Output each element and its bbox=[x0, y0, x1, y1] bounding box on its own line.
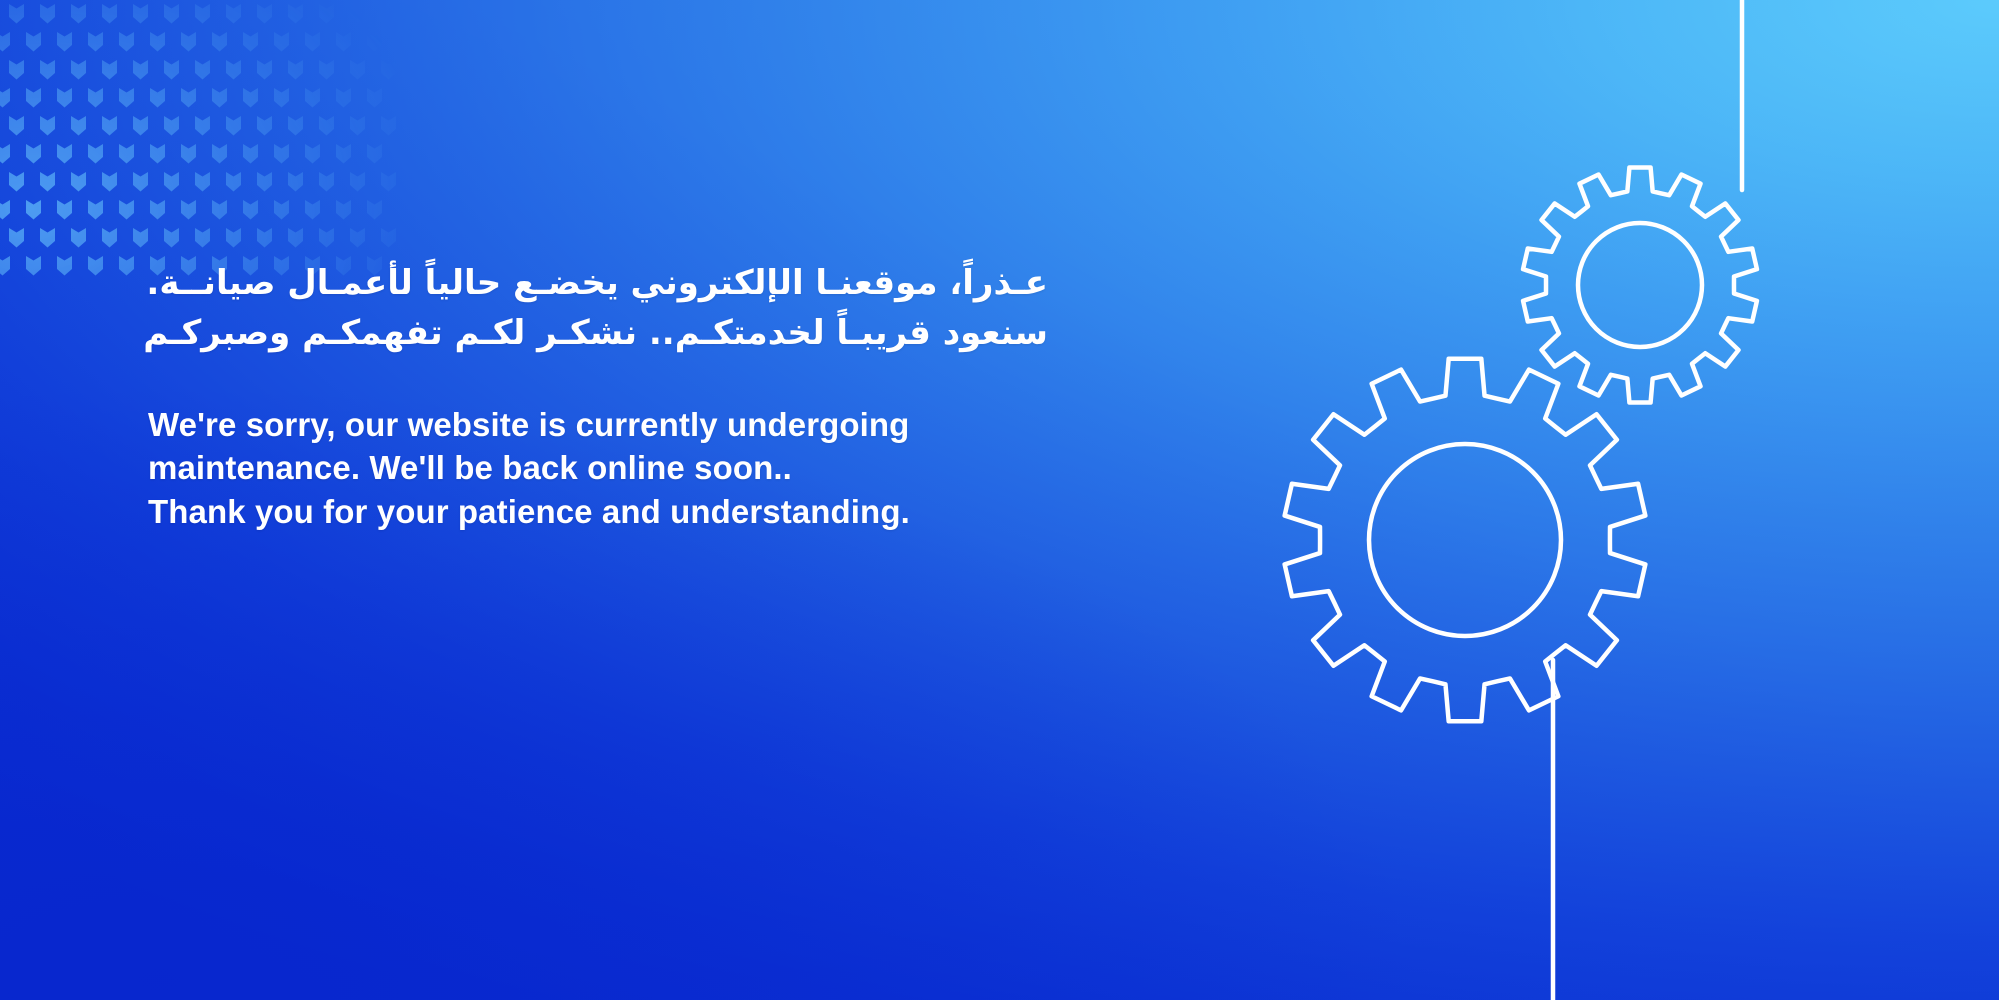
message-arabic-line-1: عـذراً، موقعنـا الإلكتروني يخضـع حالياً … bbox=[308, 258, 1048, 308]
message-english-line-2: maintenance. We'll be back online soon.. bbox=[148, 446, 1048, 490]
message-block: عـذراً، موقعنـا الإلكتروني يخضـع حالياً … bbox=[148, 258, 1048, 533]
message-arabic-line-2: سنعود قريبـاً لخدمتكـم.. نشكـر لكـم تفهم… bbox=[308, 308, 1048, 358]
message-english-line-3: Thank you for your patience and understa… bbox=[148, 490, 1048, 534]
message-english-line-1: We're sorry, our website is currently un… bbox=[148, 403, 1048, 447]
maintenance-page: عـذراً، موقعنـا الإلكتروني يخضـع حالياً … bbox=[0, 0, 1999, 1000]
message-english: We're sorry, our website is currently un… bbox=[148, 403, 1048, 534]
message-arabic: عـذراً، موقعنـا الإلكتروني يخضـع حالياً … bbox=[308, 258, 1048, 359]
